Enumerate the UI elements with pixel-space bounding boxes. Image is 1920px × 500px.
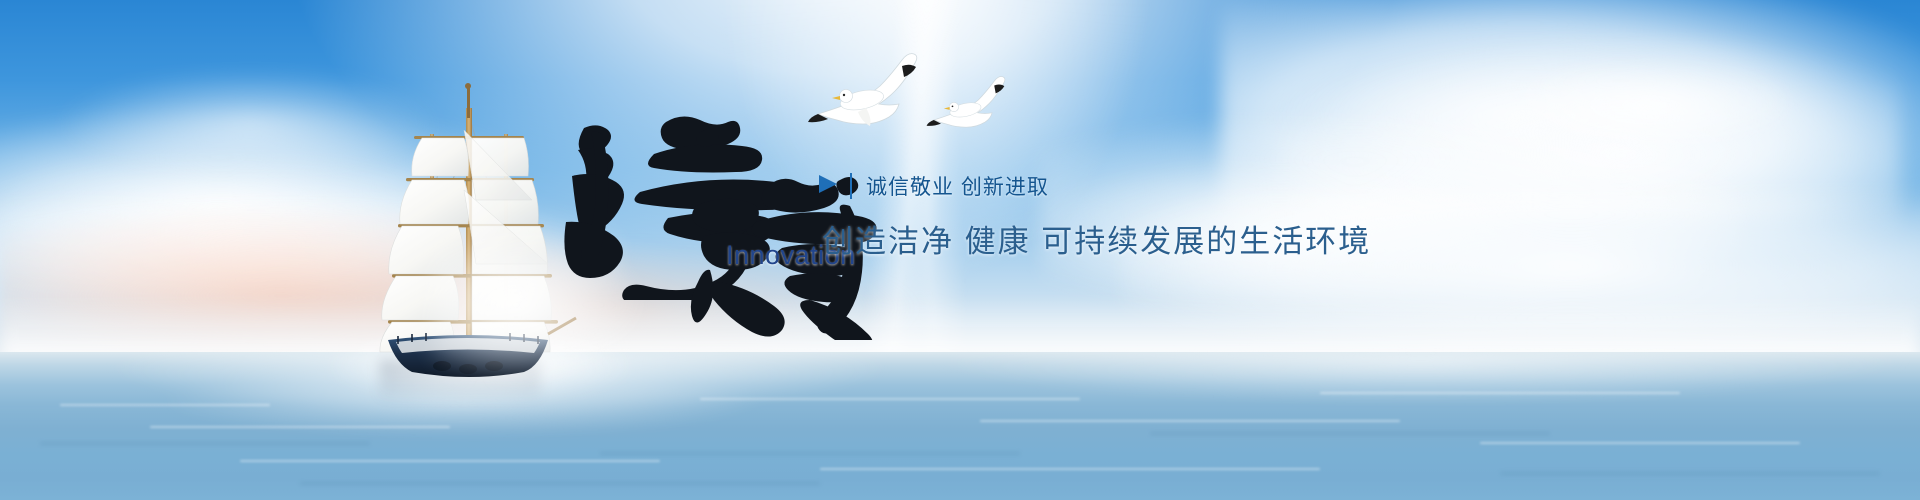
slogan-block: 诚信敬业 创新进取 创造洁净 健康 可持续发展的生活环境 — [816, 172, 1371, 261]
seagulls-group — [800, 50, 1040, 160]
sea-background — [0, 352, 1920, 500]
slogan-line-1-row: 诚信敬业 创新进取 — [816, 172, 1371, 200]
seagull-icon — [927, 77, 1005, 128]
sea-ripples — [0, 352, 1920, 500]
tall-sailing-ship-icon — [352, 78, 582, 378]
slogan-line-2: 创造洁净 健康 可持续发展的生活环境 — [822, 216, 1371, 261]
hero-banner: Innovation 诚信敬业 创新进取 创造洁净 健康 可持续发展的生活环境 — [0, 0, 1920, 500]
play-triangle-icon — [816, 172, 840, 201]
slogan-line-1: 诚信敬业 创新进取 — [866, 171, 1049, 201]
seagull-icon — [808, 54, 917, 126]
slogan-divider — [850, 173, 852, 199]
